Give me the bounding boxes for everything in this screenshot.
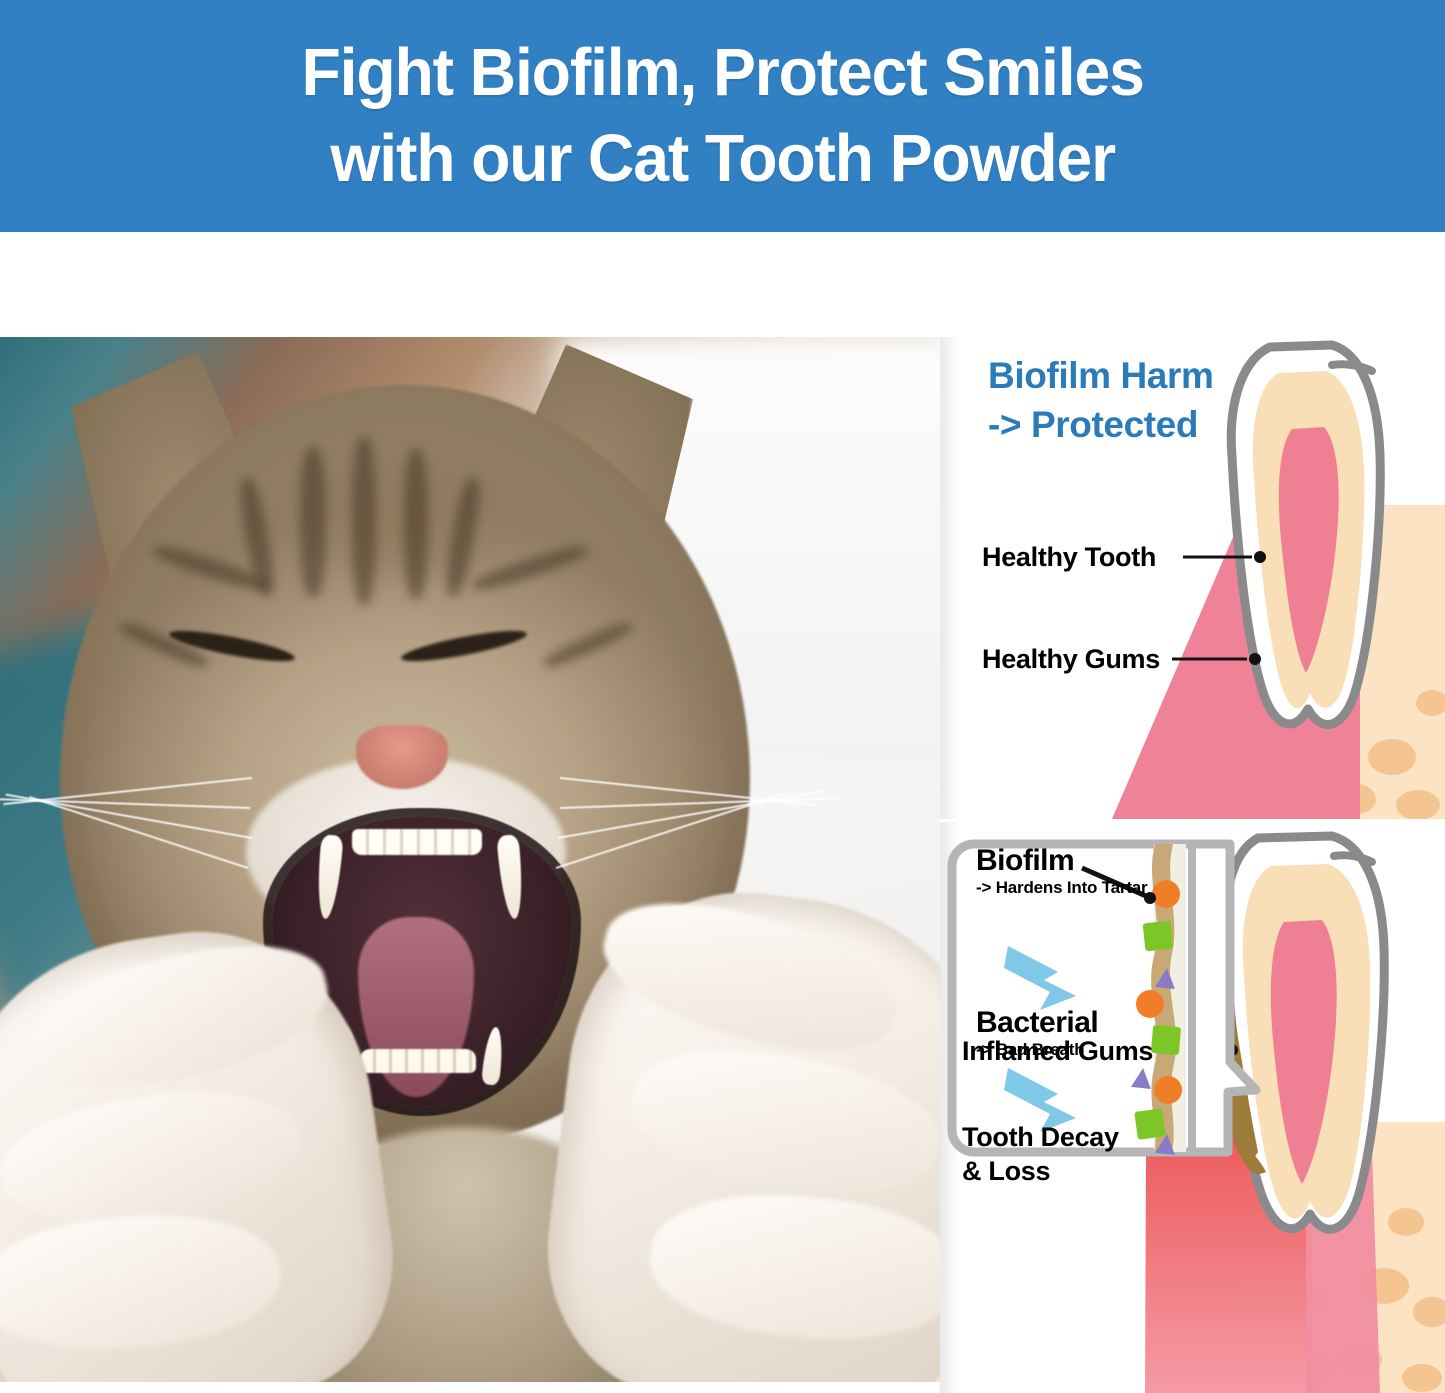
cat-product-photo — [0, 337, 940, 1382]
header-title-line1: Fight Biofilm, Protect Smiles — [301, 30, 1143, 116]
label-tooth-loss: & Loss — [962, 1154, 1050, 1188]
healthy-tooth-panel: Biofilm Harm -> Protected — [940, 337, 1445, 819]
cat-stripe — [404, 449, 428, 599]
callout-biofilm-title: Biofilm — [976, 844, 1074, 878]
header-title-line2: with our Cat Tooth Powder — [330, 116, 1115, 202]
label-healthy-gums: Healthy Gums — [982, 642, 1160, 676]
biofilm-harm-panel: Biofilm -> Hardens Into Tartar Bacterial… — [940, 822, 1445, 1393]
cat-upper-incisors — [352, 829, 482, 855]
header-banner: Fight Biofilm, Protect Smiles with our C… — [0, 0, 1445, 232]
label-tooth-decay: Tooth Decay — [962, 1120, 1119, 1154]
label-inflamed-gums: Inflamed Gums — [962, 1034, 1153, 1068]
biofilm-callout-bubble — [940, 822, 1445, 1393]
cat-lower-incisors — [360, 1049, 476, 1073]
healthy-tooth-diagram — [940, 337, 1445, 819]
callout-biofilm-subtitle: -> Hardens Into Tartar — [976, 878, 1147, 898]
cat-stripe — [300, 447, 326, 597]
cat-stripe — [352, 437, 376, 605]
label-healthy-tooth: Healthy Tooth — [982, 540, 1156, 574]
